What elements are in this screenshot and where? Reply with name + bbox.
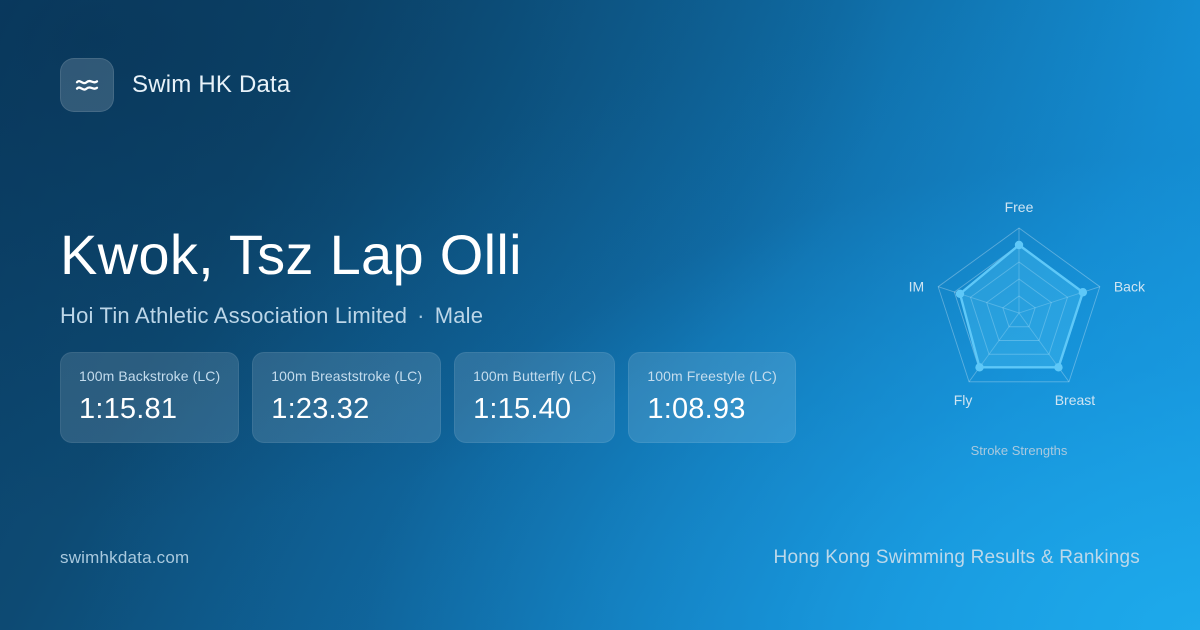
brand-lockup[interactable]: Swim HK Data	[60, 58, 290, 112]
stat-value: 1:23.32	[271, 392, 422, 426]
radar-point-breast	[1054, 363, 1062, 371]
meta-separator: ·	[407, 303, 435, 328]
best-times-row: 100m Backstroke (LC) 1:15.81 100m Breast…	[60, 352, 796, 443]
radar-axis-label-breast: Breast	[1055, 392, 1096, 408]
radar-point-im	[956, 290, 964, 298]
athlete-gender: Male	[435, 303, 484, 328]
stat-card-backstroke[interactable]: 100m Backstroke (LC) 1:15.81	[60, 352, 239, 443]
radar-axis-label-free: Free	[1005, 199, 1034, 215]
stat-label: 100m Breaststroke (LC)	[271, 368, 422, 384]
stat-label: 100m Butterfly (LC)	[473, 368, 596, 384]
stat-card-breaststroke[interactable]: 100m Breaststroke (LC) 1:23.32	[252, 352, 441, 443]
stat-value: 1:15.81	[79, 392, 220, 426]
radar-axis-label-im: IM	[909, 279, 925, 295]
footer-tagline: Hong Kong Swimming Results & Rankings	[774, 547, 1140, 569]
stat-value: 1:08.93	[647, 392, 777, 426]
stat-label: 100m Freestyle (LC)	[647, 368, 777, 384]
og-card: Swim HK Data Kwok, Tsz Lap Olli Hoi Tin …	[0, 0, 1200, 630]
athlete-club: Hoi Tin Athletic Association Limited	[60, 303, 407, 328]
radar-area	[960, 245, 1083, 367]
athlete-header: Kwok, Tsz Lap Olli Hoi Tin Athletic Asso…	[60, 222, 522, 330]
brand-name: Swim HK Data	[132, 71, 290, 99]
wave-icon	[60, 58, 114, 112]
radar-point-back	[1079, 288, 1087, 296]
athlete-meta: Hoi Tin Athletic Association Limited·Mal…	[60, 302, 522, 330]
footer-site-url[interactable]: swimhkdata.com	[60, 548, 189, 568]
radar-axis-label-fly: Fly	[954, 392, 973, 408]
radar-axis-label-back: Back	[1114, 279, 1146, 295]
stroke-strengths-radar: FreeBackBreastFlyIM Stroke Strengths	[860, 170, 1180, 470]
stat-value: 1:15.40	[473, 392, 596, 426]
radar-point-free	[1015, 241, 1023, 249]
radar-caption: Stroke Strengths	[971, 443, 1068, 458]
page-title: Kwok, Tsz Lap Olli	[60, 222, 522, 288]
stat-card-butterfly[interactable]: 100m Butterfly (LC) 1:15.40	[454, 352, 615, 443]
stat-card-freestyle[interactable]: 100m Freestyle (LC) 1:08.93	[628, 352, 796, 443]
radar-point-fly	[975, 363, 983, 371]
stat-label: 100m Backstroke (LC)	[79, 368, 220, 384]
